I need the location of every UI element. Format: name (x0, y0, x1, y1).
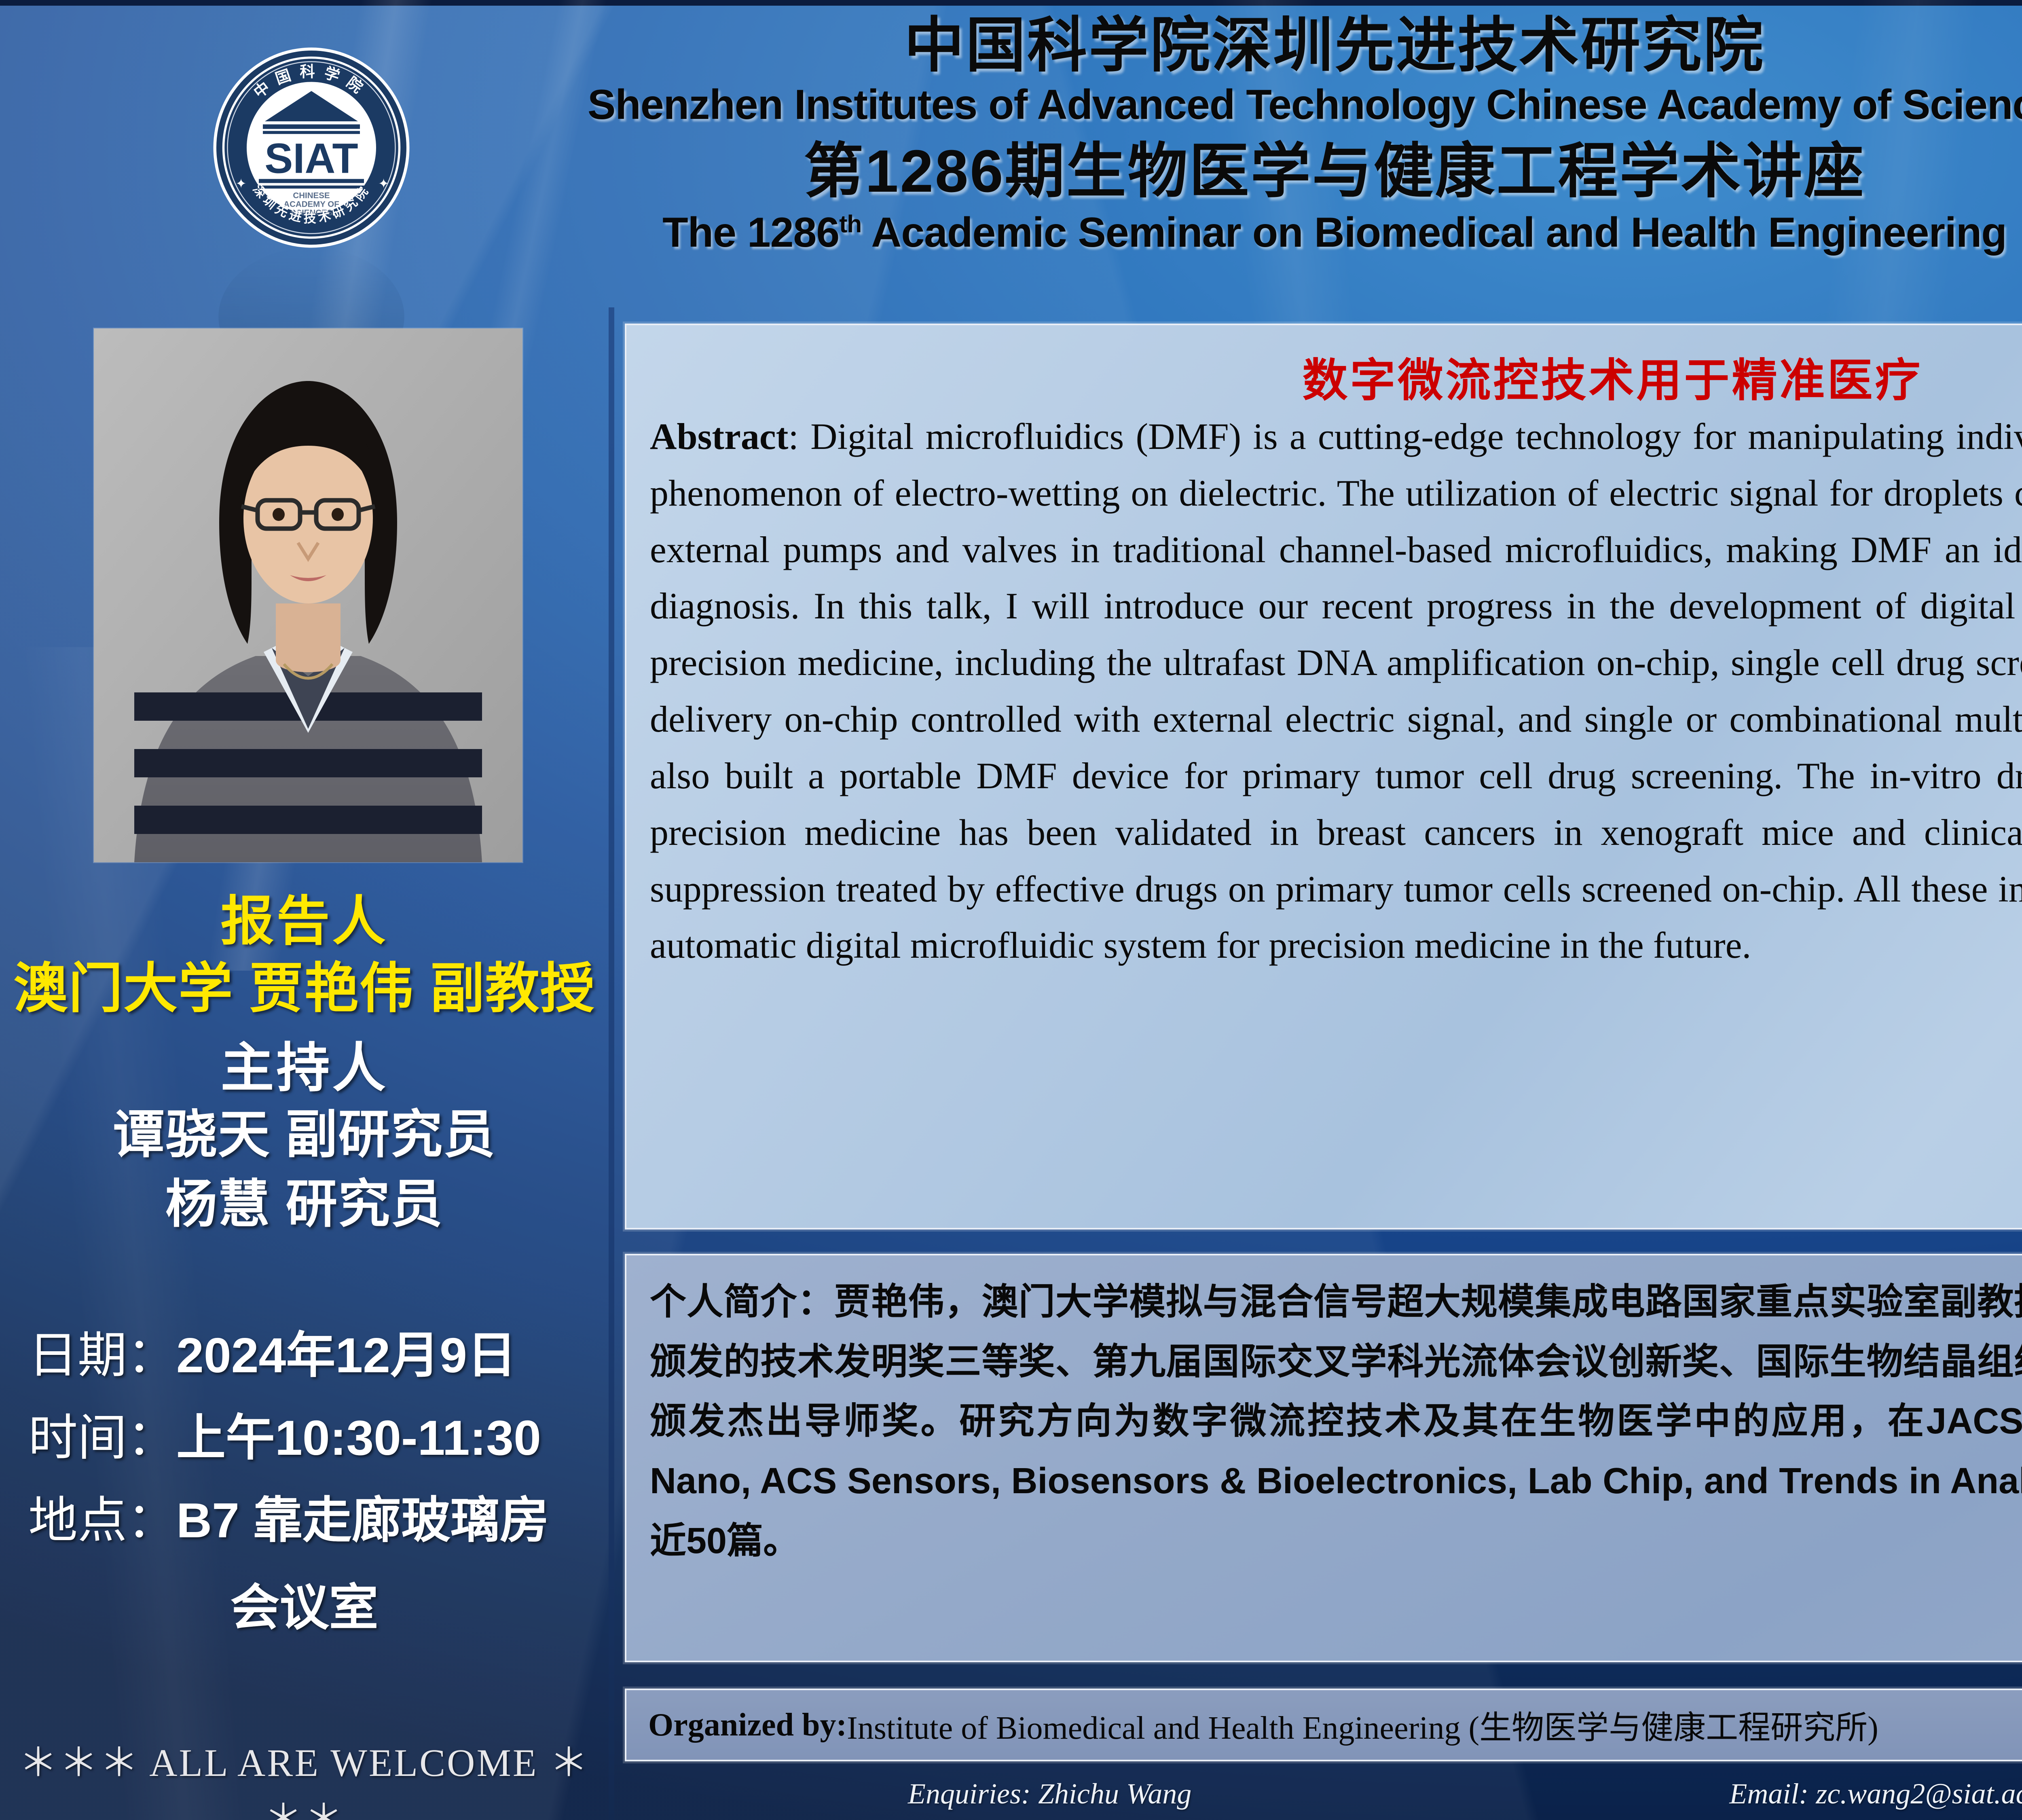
abstract-content: : Digital microfluidics (DMF) is a cutti… (650, 416, 2022, 966)
svg-text:✦: ✦ (378, 176, 389, 191)
column-divider (609, 307, 614, 1820)
talk-title: 数字微流控技术用于精准医疗 (626, 344, 2022, 409)
abstract-panel: 数字微流控技术用于精准医疗 Abstract: Digital microflu… (625, 324, 2022, 1230)
time-label: 时间： (28, 1410, 176, 1465)
bio-content: 贾艳伟，澳门大学模拟与混合信号超大规模集成电路国家重点实验室副教授、博导，曾获澳… (650, 1282, 2022, 1561)
seminar-poster: SIAT CHINESE ACADEMY OF SCIENCES 中国科学院 深… (0, 0, 2022, 1820)
svg-text:CHINESE: CHINESE (293, 191, 330, 200)
organized-by-label: Organized by: (648, 1707, 847, 1744)
bio-panel: 个人简介：贾艳伟，澳门大学模拟与混合信号超大规模集成电路国家重点实验室副教授、博… (625, 1254, 2022, 1662)
organized-by-value: Institute of Biomedical and Health Engin… (847, 1701, 1878, 1748)
svg-text:ACADEMY OF: ACADEMY OF (283, 199, 339, 209)
svg-text:✦: ✦ (236, 176, 247, 191)
event-info-block: 日期：2024年12月9日 时间：上午10:30-11:30 地点：B7 靠走廊… (0, 1331, 609, 1639)
siat-logo-icon: SIAT CHINESE ACADEMY OF SCIENCES 中国科学院 深… (210, 40, 412, 255)
date-row: 日期：2024年12月9日 (28, 1331, 609, 1380)
org-name-en: Shenzhen Institutes of Advanced Technolo… (445, 79, 2022, 131)
place-value: B7 靠走廊玻璃房 (176, 1493, 549, 1548)
date-value: 2024年12月9日 (176, 1328, 516, 1383)
place-label: 地点： (28, 1493, 176, 1548)
speaker-name: 澳门大学 贾艳伟 副教授 (0, 955, 609, 1022)
organizer-panel: Organized by: Institute of Biomedical an… (625, 1689, 2022, 1761)
series-en-ordinal: th (839, 210, 861, 238)
svg-text:SIAT: SIAT (264, 135, 358, 182)
bio-label: 个人简介： (650, 1282, 834, 1322)
abstract-label: Abstract (650, 416, 788, 457)
speaker-label: 报告人 (0, 890, 609, 953)
host-name-2: 杨慧 研究员 (0, 1170, 609, 1239)
poster-header: SIAT CHINESE ACADEMY OF SCIENCES 中国科学院 深… (0, 0, 2022, 307)
series-title-cn: 第1286期生物医学与健康工程学术讲座 (445, 135, 2022, 207)
room-value: 会议室 (28, 1568, 609, 1639)
series-title-en: The 1286th Academic Seminar on Biomedica… (445, 207, 2022, 258)
speaker-photo (94, 328, 522, 862)
poster-footer: Enquiries: Zhichu Wang Email: zc.wang2@s… (625, 1767, 2022, 1820)
header-titles: 中国科学院深圳先进技术研究院 Shenzhen Institutes of Ad… (445, 12, 2022, 258)
speaker-block: 报告人 澳门大学 贾艳伟 副教授 主持人 谭骁天 副研究员 杨慧 研究员 (0, 890, 609, 1239)
time-value: 上午10:30-11:30 (176, 1410, 541, 1465)
organizer-line: Organized by: Institute of Biomedical an… (648, 1690, 1878, 1760)
date-label: 日期： (28, 1328, 176, 1383)
welcome-note: ＊＊＊ ALL ARE WELCOME ＊＊＊ (0, 1731, 609, 1820)
series-en-pre: The 1286 (662, 209, 839, 256)
enquiries-text: Enquiries: Zhichu Wang (908, 1777, 1191, 1811)
series-en-post: Academic Seminar on Biomedical and Healt… (861, 209, 2007, 256)
place-row: 地点：B7 靠走廊玻璃房 (28, 1496, 609, 1545)
left-column: 报告人 澳门大学 贾艳伟 副教授 主持人 谭骁天 副研究员 杨慧 研究员 日期：… (0, 307, 609, 1820)
abstract-text: Abstract: Digital microfluidics (DMF) is… (650, 408, 2022, 974)
time-row: 时间：上午10:30-11:30 (28, 1413, 609, 1462)
email-text[interactable]: Email: zc.wang2@siat.ac.cn (1729, 1777, 2022, 1811)
host-name-1: 谭骁天 副研究员 (0, 1100, 609, 1170)
org-name-cn: 中国科学院深圳先进技术研究院 (445, 12, 2022, 79)
host-label: 主持人 (0, 1036, 609, 1100)
bio-text: 个人简介：贾艳伟，澳门大学模拟与混合信号超大规模集成电路国家重点实验室副教授、博… (650, 1272, 2022, 1571)
